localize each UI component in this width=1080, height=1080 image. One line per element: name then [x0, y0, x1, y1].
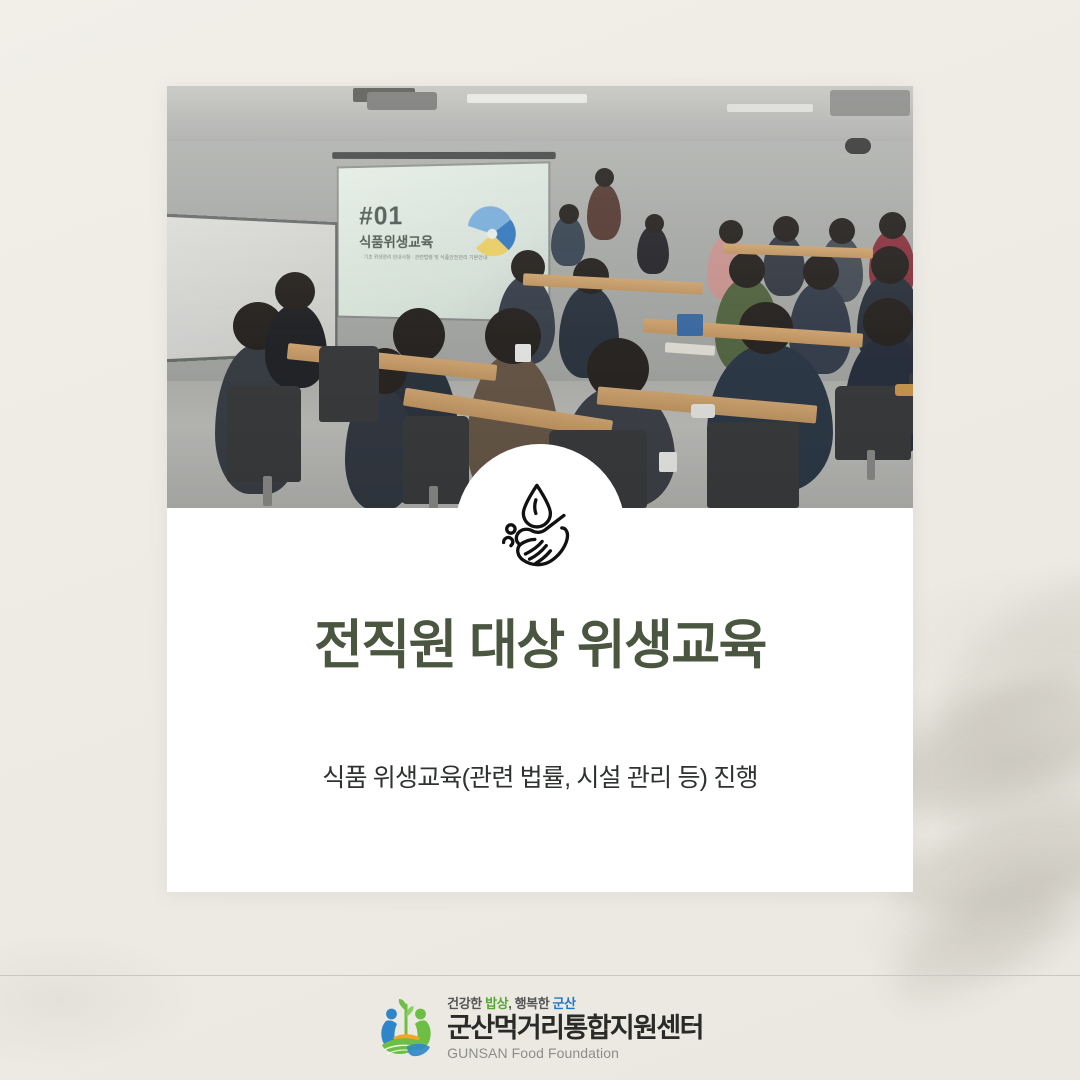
- logo-tagline-highlight-gunsan: 군산: [553, 996, 576, 1011]
- presenter-head: [595, 168, 614, 187]
- logo-name-korean: 군산먹거리통합지원센터: [447, 1015, 703, 1042]
- logo-name-english: GUNSAN Food Foundation: [447, 1046, 703, 1060]
- chair-leg: [429, 486, 438, 508]
- footer-logo: 건강한 밥상, 행복한 군산 군산먹거리통합지원센터 GUNSAN Food F…: [377, 997, 703, 1060]
- slide-number: #01: [359, 200, 403, 231]
- chair: [227, 386, 301, 482]
- logo-tagline-highlight-bapsang: 밥상: [485, 996, 508, 1011]
- person-head: [879, 212, 906, 239]
- logo-tagline-part2: , 행복한: [508, 996, 552, 1011]
- ceiling-projector: [367, 92, 437, 110]
- chair: [707, 422, 799, 508]
- person-head: [803, 254, 839, 290]
- person-seated: [637, 226, 669, 274]
- ceiling-speaker: [845, 138, 871, 154]
- person-head: [645, 214, 664, 233]
- content-card: #01 식품위생교육 · 기초 위생관리 안내사항 · 관련법령 및 식품안전관…: [167, 86, 913, 892]
- ceiling-projector-mount: [830, 90, 910, 116]
- person-head: [871, 246, 909, 284]
- person-head: [863, 298, 913, 346]
- person-head: [729, 252, 765, 288]
- paper-cup: [659, 452, 677, 472]
- footer-logo-text: 건강한 밥상, 행복한 군산 군산먹거리통합지원센터 GUNSAN Food F…: [447, 997, 703, 1060]
- chair: [835, 386, 911, 460]
- ceiling-light: [727, 104, 813, 112]
- person-head: [719, 220, 743, 244]
- card-text-body: 전직원 대상 위생교육 식품 위생교육(관련 법률, 시설 관리 등) 진행: [167, 508, 913, 796]
- person-head: [485, 308, 541, 364]
- chair-leg: [263, 476, 272, 506]
- person-head: [559, 204, 579, 224]
- gunsan-food-foundation-logo-mark: [377, 997, 435, 1059]
- ceiling-light: [467, 94, 587, 103]
- projector-screen-frame: [332, 152, 555, 159]
- person-head: [275, 272, 315, 311]
- slide-heading: 식품위생교육: [359, 232, 433, 252]
- person-head: [773, 216, 799, 242]
- footer: 건강한 밥상, 행복한 군산 군산먹거리통합지원센터 GUNSAN Food F…: [0, 976, 1080, 1080]
- chair-leg: [867, 450, 875, 480]
- presenter-body: [587, 184, 621, 240]
- chair: [319, 346, 379, 422]
- logo-tagline-part1: 건강한: [447, 996, 485, 1011]
- chair: [909, 372, 913, 434]
- person-seated: [763, 234, 805, 296]
- snack: [895, 384, 913, 396]
- handwashing-icon-badge: [455, 444, 625, 614]
- page-title: 전직원 대상 위생교육: [167, 614, 913, 678]
- paper-cup: [515, 344, 531, 362]
- slide-graphic-icon: [464, 205, 521, 262]
- logo-tagline: 건강한 밥상, 행복한 군산: [447, 997, 703, 1010]
- page-subtitle: 식품 위생교육(관련 법률, 시설 관리 등) 진행: [167, 761, 913, 796]
- handwashing-icon: [488, 477, 592, 581]
- person-head: [829, 218, 855, 244]
- storage-bin: [677, 314, 703, 336]
- paper-cup: [691, 404, 715, 418]
